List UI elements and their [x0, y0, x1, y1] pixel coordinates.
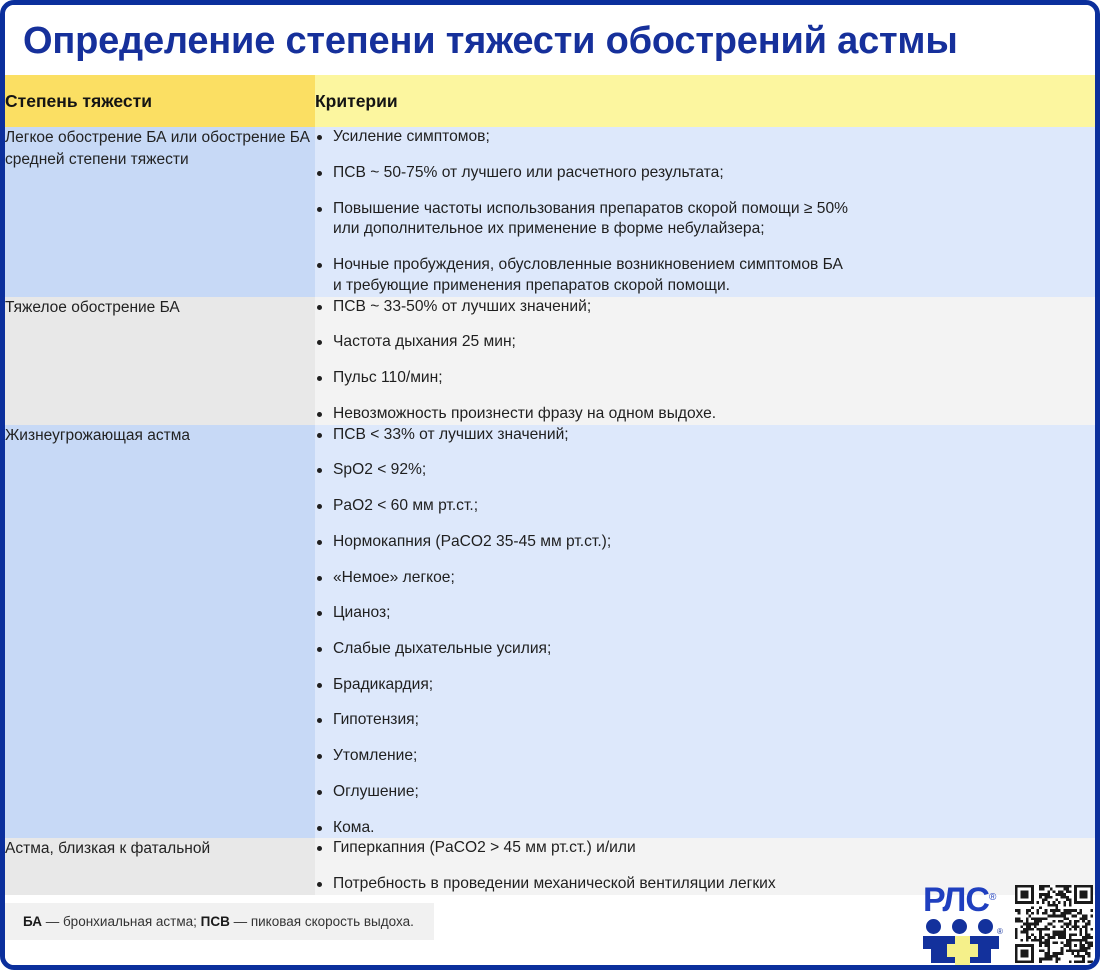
footnote: БА — бронхиальная астма; ПСВ — пиковая с… [5, 903, 434, 940]
criteria-text-continued: и требующие применения препаратов скорой… [333, 276, 1095, 297]
criteria-item: Брадикардия; [315, 675, 1095, 696]
registered-mark-icon: ® [989, 881, 995, 915]
criteria-list: ПСВ ~ 33-50% от лучших значений;Частота … [315, 297, 1095, 425]
criteria-text: Кома. [333, 818, 1095, 839]
logo-cross-horizontal [947, 944, 978, 957]
rls-logo-people-cross-icon: ® [923, 919, 1003, 965]
criteria-text: ПСВ ~ 50-75% от лучшего или расчетного р… [333, 163, 1095, 184]
criteria-text: PaO2 < 60 мм рт.ст.; [333, 496, 1095, 517]
severity-label: Легкое обострение БА или обострение БА с… [5, 127, 315, 296]
criteria-text: Пульс 110/мин; [333, 368, 1095, 389]
criteria-item: ПСВ ~ 33-50% от лучших значений; [315, 297, 1095, 318]
criteria-item: Пульс 110/мин; [315, 368, 1095, 389]
severity-table: Степень тяжести Критерии Легкое обострен… [5, 75, 1095, 895]
criteria-text: Утомление; [333, 746, 1095, 767]
criteria-text: ПСВ ~ 33-50% от лучших значений; [333, 297, 1095, 318]
title-bar: Определение степени тяжести обострений а… [5, 5, 1095, 75]
table-header-row: Степень тяжести Критерии [5, 75, 1095, 127]
criteria-text: Гиперкапния (PaCO2 > 45 мм рт.ст.) и/или [333, 838, 1095, 859]
rls-logo-letters: РЛС [923, 881, 989, 919]
footnote-text-psv: — пиковая скорость выдоха. [230, 914, 414, 929]
criteria-item: Слабые дыхательные усилия; [315, 639, 1095, 660]
criteria-cell: ПСВ < 33% от лучших значений;SpO2 < 92%;… [315, 425, 1095, 839]
criteria-item: Частота дыхания 25 мин; [315, 332, 1095, 353]
criteria-item: Гипотензия; [315, 710, 1095, 731]
criteria-text: «Немое» легкое; [333, 568, 1095, 589]
logo-registered-small-icon: ® [997, 927, 1003, 936]
page-title: Определение степени тяжести обострений а… [23, 21, 1095, 61]
criteria-text: Цианоз; [333, 603, 1095, 624]
criteria-text: Оглушение; [333, 782, 1095, 803]
criteria-text: Ночные пробуждения, обусловленные возник… [333, 255, 1095, 276]
footnote-text-ba: — бронхиальная астма; [42, 914, 201, 929]
table-head: Степень тяжести Критерии [5, 75, 1095, 127]
logo-head-right-icon [978, 919, 993, 934]
criteria-item: Нормокапния (PaCO2 35-45 мм рт.ст.); [315, 532, 1095, 553]
rls-logo-wordmark: РЛС® [923, 883, 1005, 919]
criteria-text: Невозможность произнести фразу на одном … [333, 404, 1095, 425]
criteria-item: Невозможность произнести фразу на одном … [315, 404, 1095, 425]
footnote-abbr-psv: ПСВ [201, 914, 230, 929]
criteria-text-continued: или дополнительное их применение в форме… [333, 219, 1095, 240]
table-row: Жизнеугрожающая астмаПСВ < 33% от лучших… [5, 425, 1095, 839]
criteria-text: Частота дыхания 25 мин; [333, 332, 1095, 353]
severity-label: Тяжелое обострение БА [5, 297, 315, 425]
criteria-text: Брадикардия; [333, 675, 1095, 696]
qr-code-image [1015, 885, 1093, 963]
criteria-cell: Усиление симптомов;ПСВ ~ 50-75% от лучше… [315, 127, 1095, 296]
criteria-item: Оглушение; [315, 782, 1095, 803]
criteria-text: ПСВ < 33% от лучших значений; [333, 425, 1095, 446]
logo-head-left-icon [926, 919, 941, 934]
criteria-item: Кома. [315, 818, 1095, 839]
infographic-card: Определение степени тяжести обострений а… [0, 0, 1100, 970]
criteria-list: Усиление симптомов;ПСВ ~ 50-75% от лучше… [315, 127, 1095, 296]
logo-head-center-icon [952, 919, 967, 934]
criteria-text: Повышение частоты использования препарат… [333, 199, 1095, 220]
criteria-item: ПСВ < 33% от лучших значений; [315, 425, 1095, 446]
criteria-item: PaO2 < 60 мм рт.ст.; [315, 496, 1095, 517]
table-row: Тяжелое обострение БАПСВ ~ 33-50% от луч… [5, 297, 1095, 425]
criteria-text: SpO2 < 92%; [333, 460, 1095, 481]
criteria-text: Усиление симптомов; [333, 127, 1095, 148]
severity-label: Жизнеугрожающая астма [5, 425, 315, 839]
criteria-text: Слабые дыхательные усилия; [333, 639, 1095, 660]
criteria-item: Ночные пробуждения, обусловленные возник… [315, 255, 1095, 296]
column-header-criteria: Критерии [315, 75, 1095, 127]
table-body: Легкое обострение БА или обострение БА с… [5, 127, 1095, 895]
criteria-item: Усиление симптомов; [315, 127, 1095, 148]
criteria-item: Утомление; [315, 746, 1095, 767]
table-row: Легкое обострение БА или обострение БА с… [5, 127, 1095, 296]
criteria-item: «Немое» легкое; [315, 568, 1095, 589]
severity-label: Астма, близкая к фатальной [5, 838, 315, 894]
column-header-severity: Степень тяжести [5, 75, 315, 127]
criteria-item: Гиперкапния (PaCO2 > 45 мм рт.ст.) и/или [315, 838, 1095, 859]
criteria-list: ПСВ < 33% от лучших значений;SpO2 < 92%;… [315, 425, 1095, 839]
criteria-item: Повышение частоты использования препарат… [315, 199, 1095, 240]
qr-code[interactable] [1015, 885, 1093, 963]
criteria-text: Гипотензия; [333, 710, 1095, 731]
rls-logo[interactable]: РЛС® ® [923, 883, 1005, 967]
criteria-cell: ПСВ ~ 33-50% от лучших значений;Частота … [315, 297, 1095, 425]
criteria-item: SpO2 < 92%; [315, 460, 1095, 481]
criteria-text: Нормокапния (PaCO2 35-45 мм рт.ст.); [333, 532, 1095, 553]
criteria-item: Цианоз; [315, 603, 1095, 624]
criteria-item: ПСВ ~ 50-75% от лучшего или расчетного р… [315, 163, 1095, 184]
footnote-abbr-ba: БА [23, 914, 42, 929]
